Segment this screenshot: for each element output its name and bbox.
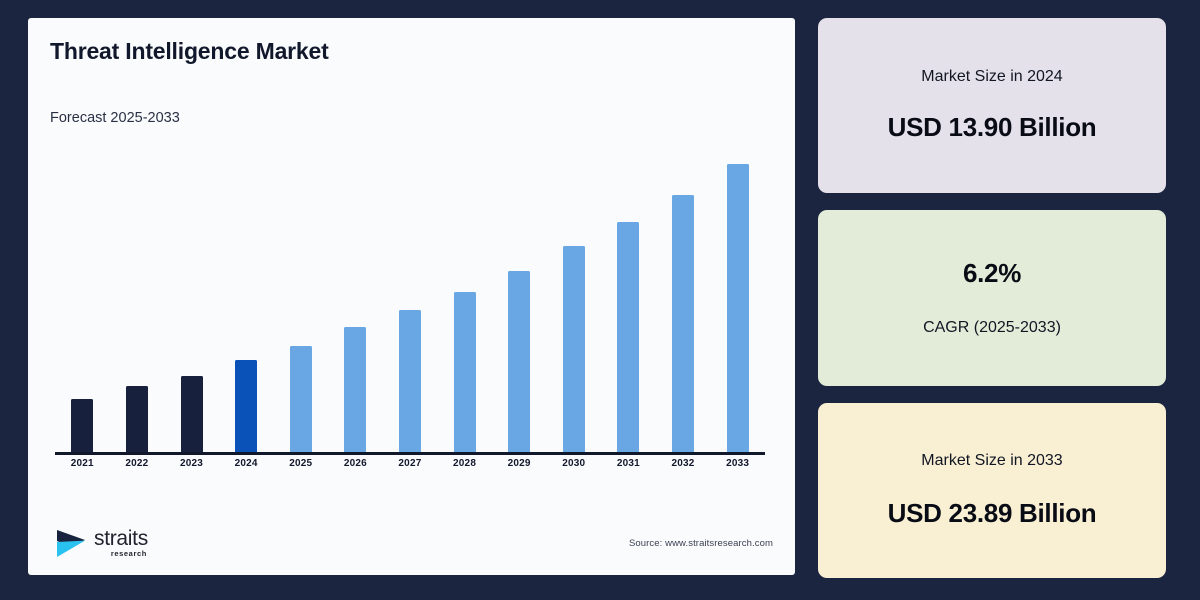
source-attribution: Source: www.straitsresearch.com	[629, 538, 773, 549]
bar-2031	[617, 222, 639, 452]
bar-2021	[71, 399, 93, 452]
bar-slot	[165, 138, 219, 452]
stat-card-value: USD 13.90 Billion	[888, 112, 1097, 143]
x-label-2026: 2026	[328, 458, 382, 469]
bar-series	[55, 138, 765, 452]
bar-slot	[601, 138, 655, 452]
bar-2026	[344, 327, 366, 452]
bar-2025	[290, 346, 312, 452]
x-label-2025: 2025	[274, 458, 328, 469]
logo-name: straits	[94, 528, 148, 549]
bar-slot	[656, 138, 710, 452]
bar-slot	[274, 138, 328, 452]
bar-2032	[672, 195, 694, 452]
stat-card-3: Market Size in 2033USD 23.89 Billion	[818, 403, 1166, 578]
bar-slot	[383, 138, 437, 452]
bar-chart-plot: 2021202220232024202520262027202820292030…	[28, 18, 795, 575]
straits-arrow-icon	[55, 524, 87, 562]
x-label-2023: 2023	[165, 458, 219, 469]
bar-slot	[328, 138, 382, 452]
bar-slot	[492, 138, 546, 452]
bar-2029	[508, 271, 530, 452]
bar-2033	[727, 164, 749, 452]
stat-card-label: CAGR (2025-2033)	[923, 319, 1061, 337]
x-label-2022: 2022	[110, 458, 164, 469]
stat-card-list: Market Size in 2024USD 13.90 Billion6.2%…	[818, 18, 1166, 578]
bar-2027	[399, 310, 421, 452]
stat-card-label: Market Size in 2024	[921, 68, 1062, 86]
chart-panel: Threat Intelligence Market Forecast 2025…	[28, 18, 795, 575]
infographic-root: Threat Intelligence Market Forecast 2025…	[0, 0, 1200, 600]
bar-slot	[438, 138, 492, 452]
bar-slot	[55, 138, 109, 452]
x-label-2033: 2033	[711, 458, 765, 469]
x-axis-line	[55, 452, 765, 455]
bar-slot	[219, 138, 273, 452]
bar-2028	[454, 292, 476, 452]
bar-slot	[110, 138, 164, 452]
stat-card-value: 6.2%	[963, 258, 1021, 289]
x-label-2027: 2027	[383, 458, 437, 469]
stat-card-label: Market Size in 2033	[921, 452, 1062, 470]
stat-card-value: USD 23.89 Billion	[888, 498, 1097, 529]
x-label-2024: 2024	[219, 458, 273, 469]
x-label-2028: 2028	[438, 458, 492, 469]
bar-slot	[711, 138, 765, 452]
stat-card-2: 6.2%CAGR (2025-2033)	[818, 210, 1166, 385]
bar-2030	[563, 246, 585, 452]
straits-research-logo: straits research	[55, 524, 148, 562]
bar-2024	[235, 360, 257, 452]
x-axis-tick-labels: 2021202220232024202520262027202820292030…	[55, 458, 765, 469]
x-label-2032: 2032	[656, 458, 710, 469]
bar-2023	[181, 376, 203, 452]
chart-footer: straits research Source: www.straitsrese…	[28, 516, 795, 575]
stat-card-1: Market Size in 2024USD 13.90 Billion	[818, 18, 1166, 193]
x-label-2029: 2029	[492, 458, 546, 469]
bar-2022	[126, 386, 148, 452]
x-label-2021: 2021	[55, 458, 109, 469]
logo-subtitle: research	[111, 550, 147, 558]
bar-slot	[547, 138, 601, 452]
x-label-2031: 2031	[601, 458, 655, 469]
logo-wordmark: straits research	[94, 528, 148, 558]
x-label-2030: 2030	[547, 458, 601, 469]
